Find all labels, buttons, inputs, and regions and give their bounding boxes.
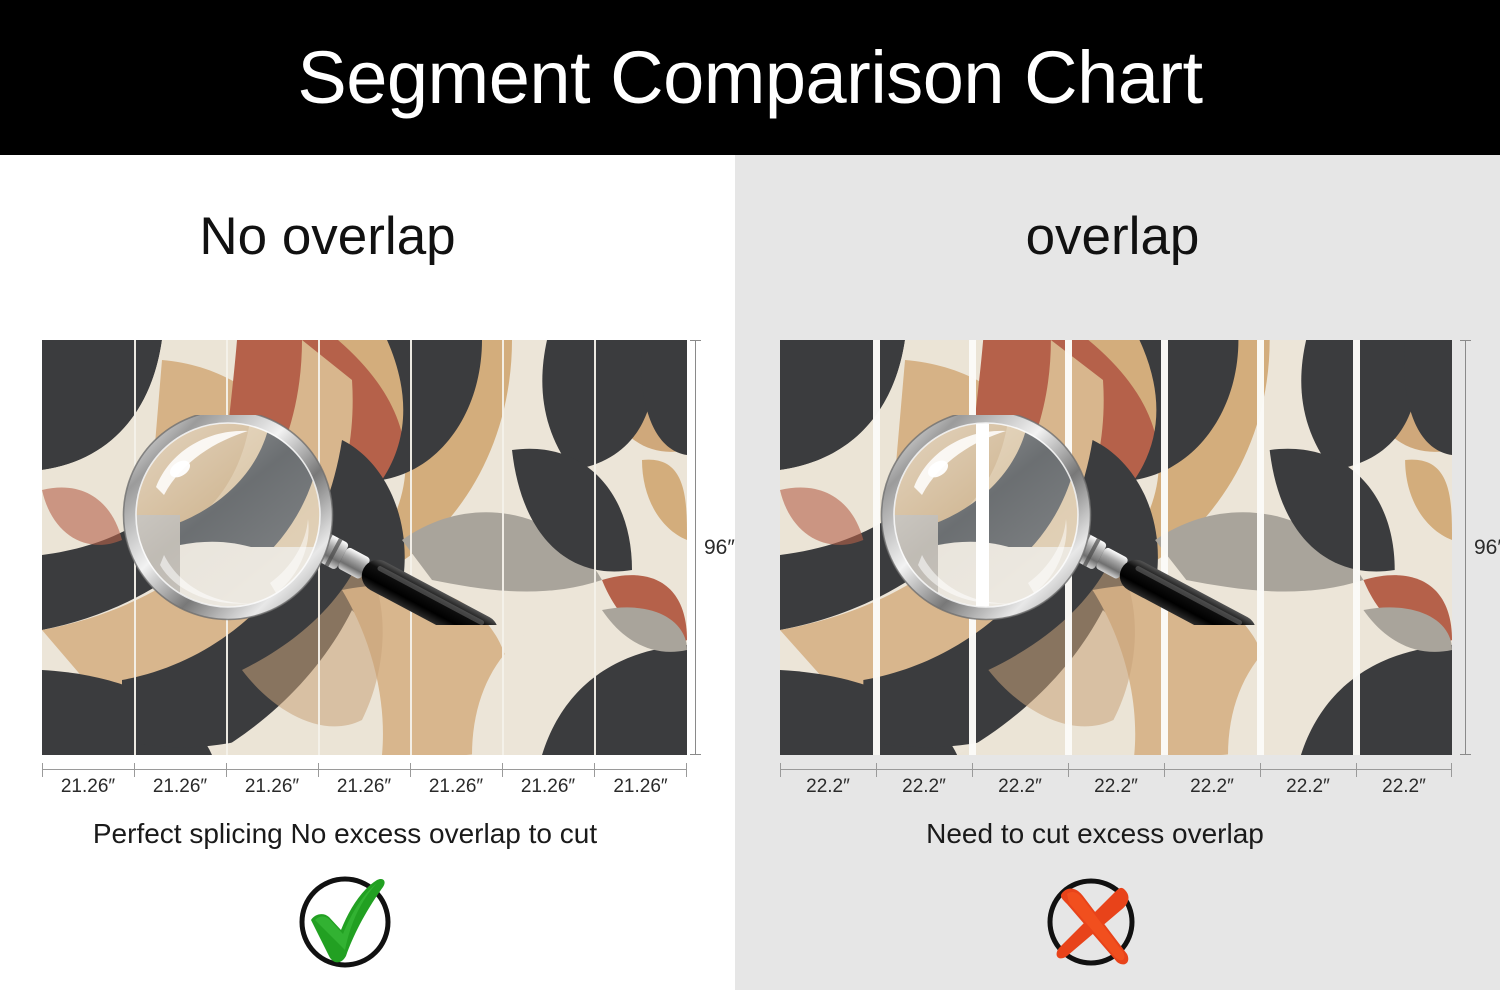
height-label-no-overlap: 96″ xyxy=(704,536,735,560)
heading-overlap: overlap xyxy=(735,210,1500,263)
seam-3 xyxy=(1065,340,1072,755)
segment-width-label: 22.2″ xyxy=(876,773,972,802)
seam-6 xyxy=(594,340,596,755)
segment-width-label: 22.2″ xyxy=(780,773,876,802)
seam-5 xyxy=(502,340,504,755)
segment-width-label: 22.2″ xyxy=(1260,773,1356,802)
width-labels-overlap: 22.2″ 22.2″ 22.2″ 22.2″ 22.2″ 22.2″ 22.2… xyxy=(780,773,1452,802)
seam-2 xyxy=(969,340,976,755)
segment-width-label: 21.26″ xyxy=(410,773,502,802)
mural-image-overlap xyxy=(780,340,1452,755)
segment-width-label: 22.2″ xyxy=(1356,773,1452,802)
caption-overlap: Need to cut excess overlap xyxy=(735,820,1500,848)
verdict-overlap xyxy=(735,870,1500,974)
caption-no-overlap: Perfect splicing No excess overlap to cu… xyxy=(0,820,735,848)
mural-overlap xyxy=(780,340,1452,755)
check-circle-icon xyxy=(291,870,399,974)
segment-width-label: 22.2″ xyxy=(972,773,1068,802)
mural-seams-overlap xyxy=(780,340,1452,755)
comparison-chart-page: Segment Comparison Chart No overlap xyxy=(0,0,1500,990)
seam-5 xyxy=(1257,340,1264,755)
seam-6 xyxy=(1353,340,1360,755)
segment-width-label: 21.26″ xyxy=(594,773,687,802)
segment-width-label: 21.26″ xyxy=(226,773,318,802)
title-banner: Segment Comparison Chart xyxy=(0,0,1500,155)
segment-width-label: 22.2″ xyxy=(1164,773,1260,802)
width-dimension-no-overlap: 21.26″ 21.26″ 21.26″ 21.26″ 21.26″ 21.26… xyxy=(42,763,687,809)
height-line xyxy=(1465,340,1466,755)
cross-circle-icon xyxy=(1041,870,1149,974)
segment-width-label: 21.26″ xyxy=(42,773,134,802)
height-line xyxy=(695,340,696,755)
height-cap-bottom xyxy=(1460,754,1471,755)
seam-4 xyxy=(1161,340,1168,755)
mural-no-overlap xyxy=(42,340,687,755)
segment-width-label: 21.26″ xyxy=(318,773,410,802)
mural-seams-no-overlap xyxy=(42,340,687,755)
seam-3 xyxy=(318,340,320,755)
heading-no-overlap: No overlap xyxy=(0,210,735,263)
height-label-overlap: 96″ xyxy=(1474,536,1500,560)
segment-width-label: 21.26″ xyxy=(134,773,226,802)
width-labels-no-overlap: 21.26″ 21.26″ 21.26″ 21.26″ 21.26″ 21.26… xyxy=(42,773,687,802)
height-cap-bottom xyxy=(690,754,701,755)
panel-no-overlap: No overlap xyxy=(0,155,735,990)
seam-2 xyxy=(226,340,228,755)
width-dimension-overlap: 22.2″ 22.2″ 22.2″ 22.2″ 22.2″ 22.2″ 22.2… xyxy=(780,763,1452,809)
panel-overlap: overlap xyxy=(735,155,1500,990)
segment-width-label: 21.26″ xyxy=(502,773,594,802)
verdict-no-overlap xyxy=(0,870,735,974)
mural-image-no-overlap xyxy=(42,340,687,755)
segment-width-label: 22.2″ xyxy=(1068,773,1164,802)
seam-1 xyxy=(873,340,880,755)
seam-1 xyxy=(134,340,136,755)
page-title: Segment Comparison Chart xyxy=(297,41,1202,115)
seam-4 xyxy=(410,340,412,755)
